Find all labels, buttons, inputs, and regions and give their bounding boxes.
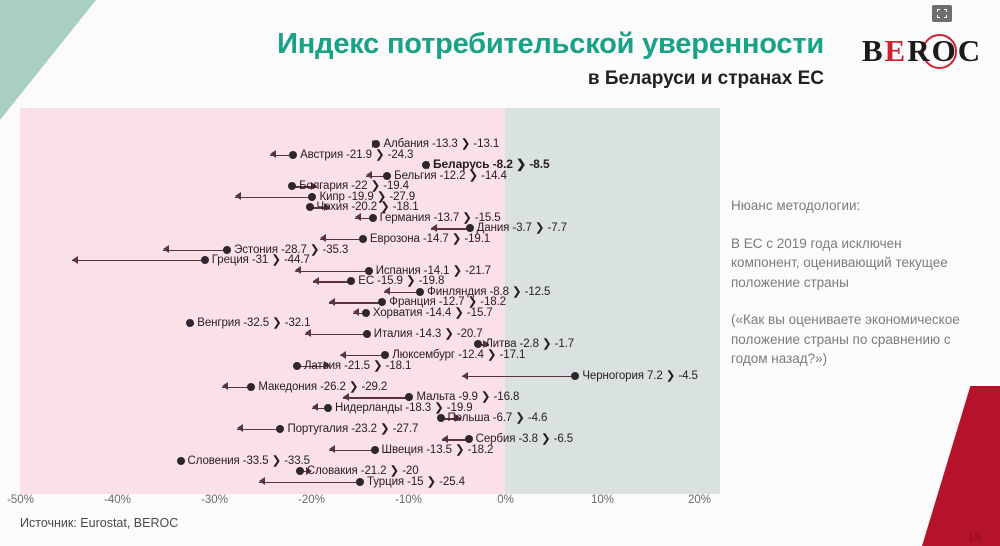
data-point-marker (324, 404, 332, 412)
data-point-marker (356, 478, 364, 486)
logo-letter-e: E (885, 33, 908, 69)
change-connector (320, 239, 363, 240)
chart-row: Турция -15 ❯ -25.4 (20, 476, 720, 490)
data-point-marker (306, 203, 314, 211)
data-point-marker (571, 372, 579, 380)
change-connector (235, 197, 313, 198)
change-connector (340, 355, 386, 356)
data-point-marker (177, 457, 185, 465)
data-point-marker (359, 235, 367, 243)
page-number: 18 (968, 530, 982, 544)
change-arrow-head (329, 298, 335, 306)
change-arrow-head (462, 372, 468, 380)
decorative-red-corner (922, 386, 1000, 546)
source-note: Источник: Eurostat, BEROC (20, 516, 178, 530)
data-point-marker (289, 151, 297, 159)
x-axis-tick: 10% (591, 494, 614, 506)
change-connector (329, 302, 382, 303)
change-arrow-head (329, 445, 335, 453)
change-arrow-head (295, 266, 301, 274)
data-point-marker (296, 467, 304, 475)
data-point-label: Турция -15 ❯ -25.4 (367, 474, 465, 488)
data-point-marker (288, 182, 296, 190)
x-axis-tick: 0% (497, 494, 514, 506)
x-axis-tick: -10% (395, 494, 422, 506)
x-axis-tick: 20% (688, 494, 711, 506)
beroc-logo: BEROC (866, 30, 978, 72)
methodology-note: Нюанс методологии: В ЕС с 2019 года искл… (731, 196, 963, 369)
x-axis-tick: -30% (201, 494, 228, 506)
change-arrow-head (355, 213, 361, 221)
logo-letter-r: R (907, 33, 931, 69)
change-arrow-head (235, 192, 241, 200)
data-point-marker (201, 256, 209, 264)
page-subtitle: в Беларуси и странах ЕС (588, 68, 824, 90)
change-arrow-head (237, 424, 243, 432)
change-arrow-head (72, 256, 78, 264)
x-axis: -50%-40%-30%-20%-10%0%10%20% (0, 494, 760, 514)
data-point-marker (308, 193, 316, 201)
change-arrow-head (163, 245, 169, 253)
note-line-1: Нюанс методологии: (731, 196, 963, 216)
x-axis-tick: -40% (104, 494, 131, 506)
slide-canvas: 18 Индекс потребительской уверенности в … (0, 0, 1000, 546)
change-connector (343, 397, 410, 398)
note-line-3: («Как вы оцениваете экономическое положе… (731, 310, 963, 369)
slide-header: Индекс потребительской уверенности в Бел… (0, 16, 1000, 90)
change-connector (259, 482, 360, 483)
change-arrow-head (270, 150, 276, 158)
data-point-marker (276, 425, 284, 433)
change-arrow-head (259, 477, 265, 485)
data-point-marker (247, 383, 255, 391)
change-arrow-head (222, 382, 228, 390)
change-connector (237, 429, 281, 430)
page-title: Индекс потребительской уверенности (277, 28, 824, 61)
data-point-marker (369, 214, 377, 222)
data-point-marker (362, 309, 370, 317)
note-line-2: В ЕС с 2019 года исключен компонент, оце… (731, 234, 963, 293)
change-arrow-head (353, 308, 359, 316)
data-point-marker (371, 446, 379, 454)
logo-letter-c: C (958, 33, 982, 69)
change-connector (462, 376, 575, 377)
x-axis-tick: -50% (7, 494, 34, 506)
logo-letter-b: B (862, 33, 885, 69)
change-connector (329, 450, 375, 451)
logo-letter-o: O (932, 33, 958, 69)
x-axis-tick: -20% (298, 494, 325, 506)
change-arrow-head (305, 329, 311, 337)
chart-plot-area: Албания -13.3 ❯ -13.1Австрия -21.9 ❯ -24… (20, 108, 720, 494)
data-point-marker (363, 330, 371, 338)
change-connector (295, 271, 369, 272)
change-arrow-head (312, 403, 318, 411)
change-connector (72, 260, 205, 261)
change-arrow-head (313, 277, 319, 285)
data-point-marker (437, 414, 445, 422)
data-point-marker (347, 277, 355, 285)
logo-wordmark: BEROC (866, 30, 978, 72)
change-connector (163, 250, 227, 251)
data-point-marker (293, 362, 301, 370)
change-connector (305, 334, 367, 335)
